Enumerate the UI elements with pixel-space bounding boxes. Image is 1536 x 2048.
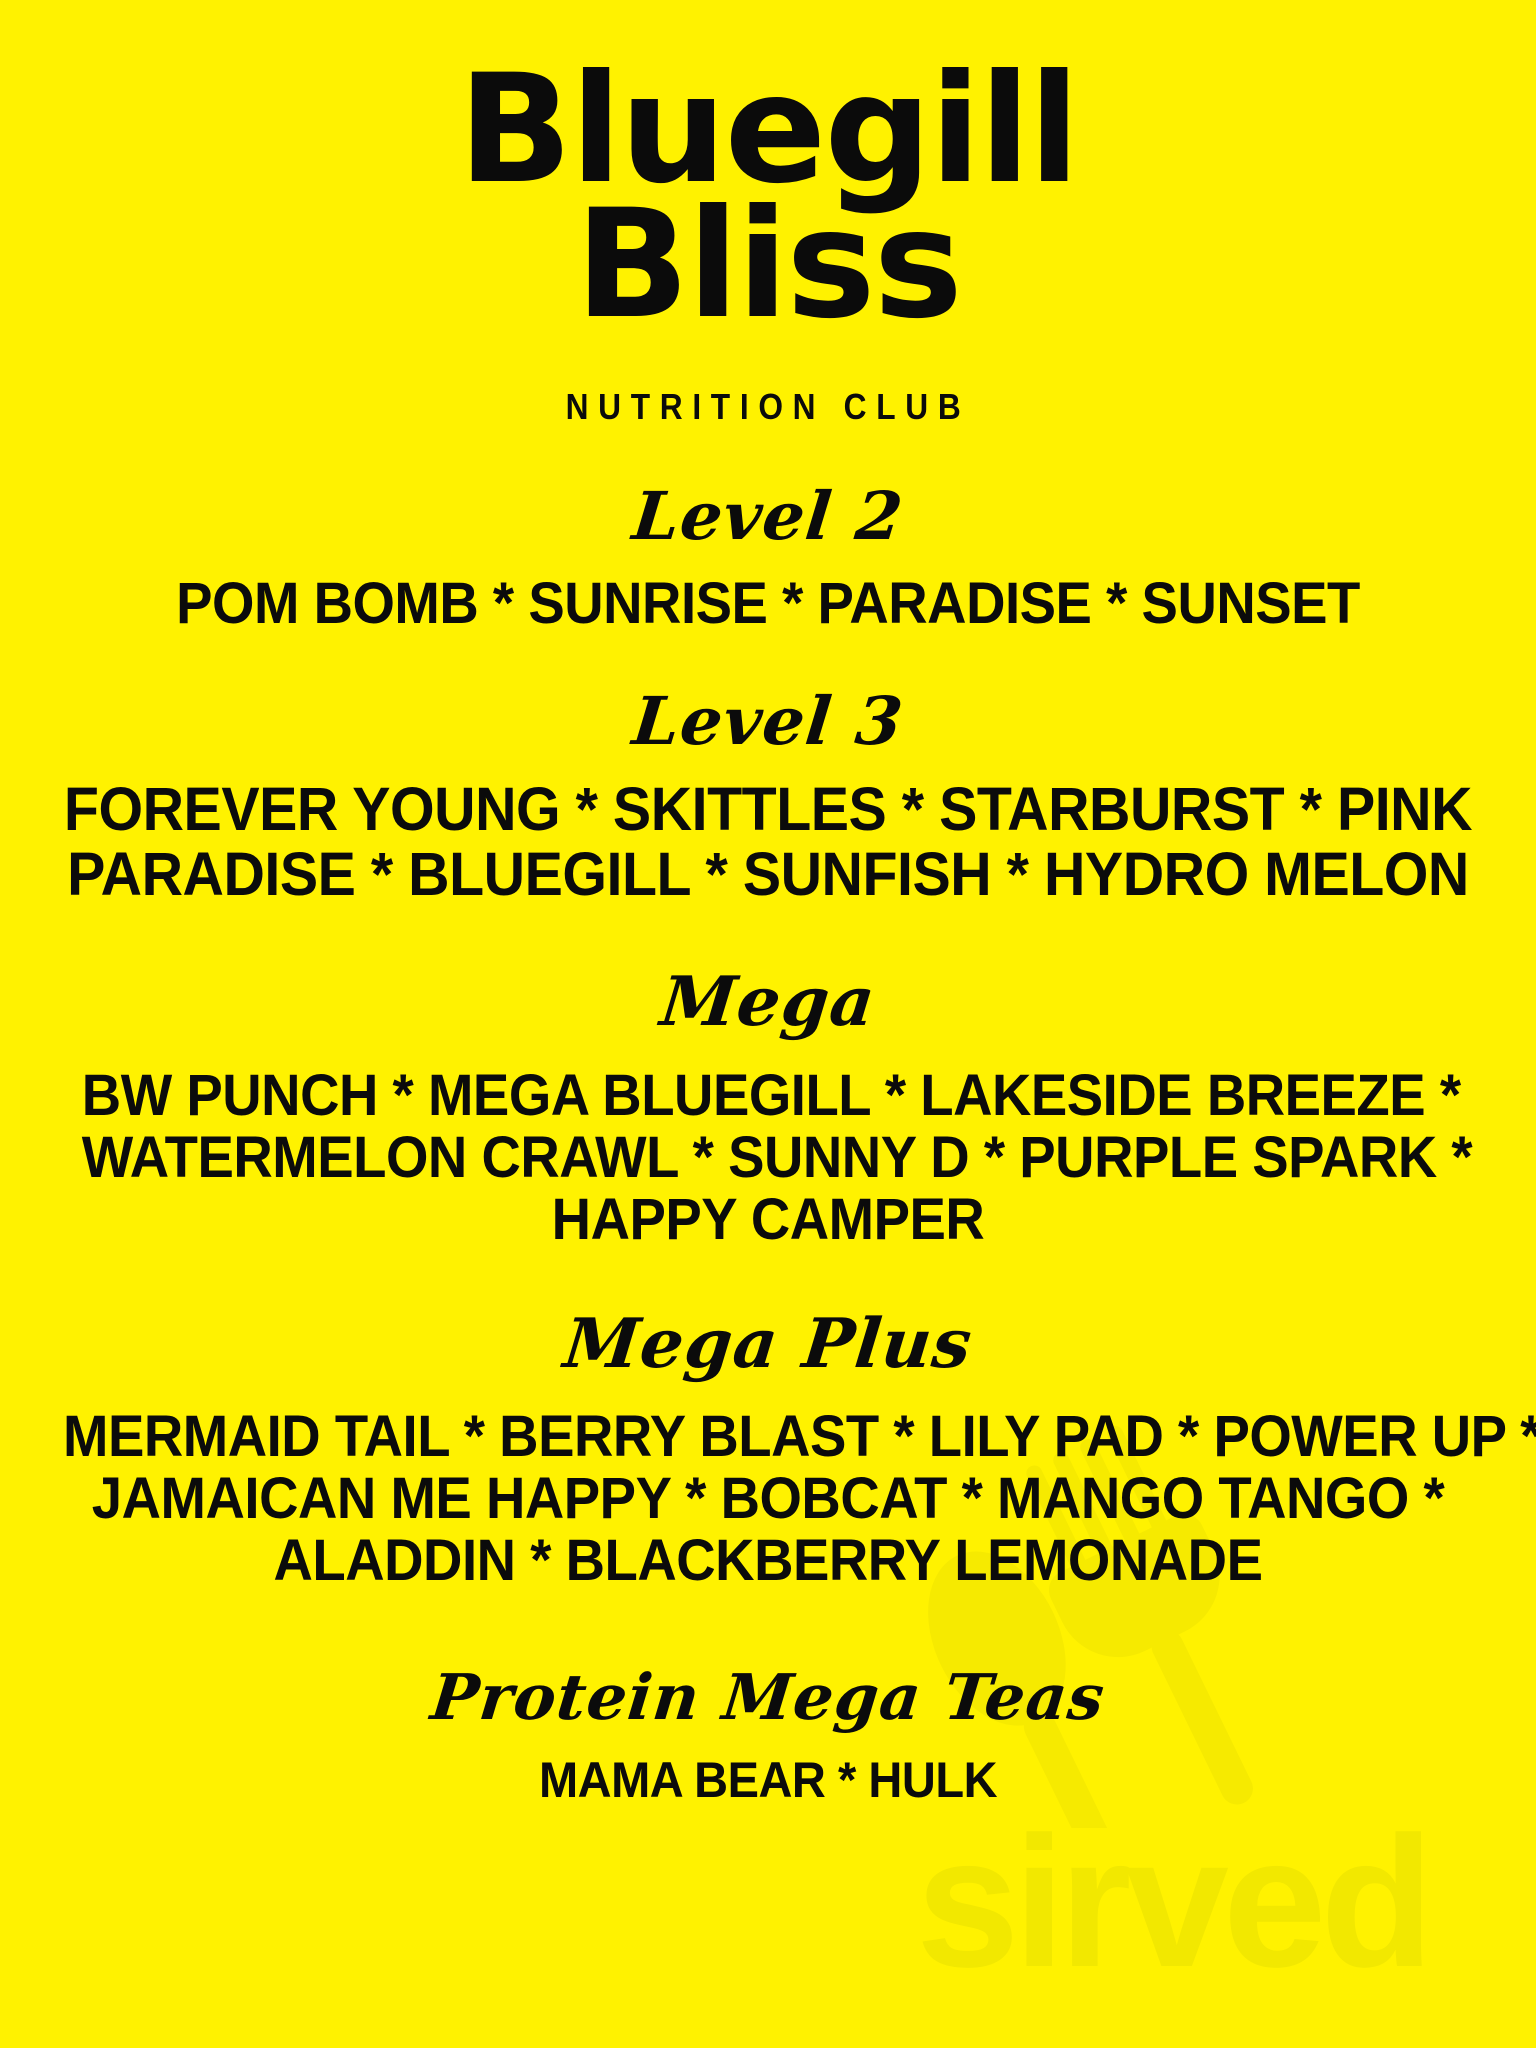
section-items-mega-plus: MERMAID TAIL * BERRY BLAST * LILY PAD * …: [63, 1406, 1473, 1592]
item-line: PARADISE * BLUEGILL * SUNFISH * HYDRO ME…: [63, 842, 1473, 907]
item-line: HAPPY CAMPER: [82, 1189, 1454, 1251]
section-level-2: Level 2 POM BOMB * SUNRISE * PARADISE * …: [0, 482, 1536, 635]
section-mega-plus: Mega Plus MERMAID TAIL * BERRY BLAST * L…: [0, 1309, 1536, 1593]
section-heading-mega: Mega: [0, 967, 1536, 1038]
item-line: FOREVER YOUNG * SKITTLES * STARBURST * P…: [63, 777, 1473, 842]
item-line: ALADDIN * BLACKBERRY LEMONADE: [63, 1530, 1473, 1592]
brand-block: Bluegill Bliss NUTRITION CLUB: [0, 60, 1536, 428]
watermark-wordmark: sirved: [916, 1810, 1428, 1996]
item-line: WATERMELON CRAWL * SUNNY D * PURPLE SPAR…: [82, 1127, 1454, 1189]
section-items-protein-mega-teas: MAMA BEAR * HULK: [72, 1754, 1463, 1808]
item-line: JAMAICAN ME HAPPY * BOBCAT * MANGO TANGO…: [63, 1468, 1473, 1530]
section-items-level-3: FOREVER YOUNG * SKITTLES * STARBURST * P…: [63, 777, 1473, 908]
item-line: MAMA BEAR * HULK: [72, 1754, 1463, 1808]
brand-name-line-2: Bliss: [0, 195, 1536, 336]
section-level-3: Level 3 FOREVER YOUNG * SKITTLES * STARB…: [0, 687, 1536, 907]
section-items-mega: BW PUNCH * MEGA BLUEGILL * LAKESIDE BREE…: [82, 1065, 1454, 1251]
section-protein-mega-teas: Protein Mega Teas MAMA BEAR * HULK: [0, 1664, 1536, 1808]
item-line: BW PUNCH * MEGA BLUEGILL * LAKESIDE BREE…: [82, 1065, 1454, 1127]
section-heading-level-2: Level 2: [0, 482, 1536, 551]
brand-subtitle: NUTRITION CLUB: [92, 386, 1444, 428]
section-items-level-2: POM BOMB * SUNRISE * PARADISE * SUNSET: [72, 573, 1463, 635]
section-heading-mega-plus: Mega Plus: [0, 1309, 1536, 1380]
section-mega: Mega BW PUNCH * MEGA BLUEGILL * LAKESIDE…: [0, 967, 1536, 1251]
section-heading-protein-mega-teas: Protein Mega Teas: [0, 1664, 1536, 1730]
item-line: POM BOMB * SUNRISE * PARADISE * SUNSET: [72, 573, 1463, 635]
menu-poster: sirved Bluegill Bliss NUTRITION CLUB Lev…: [0, 0, 1536, 2048]
poster-content: Bluegill Bliss NUTRITION CLUB Level 2 PO…: [0, 0, 1536, 1808]
item-line: MERMAID TAIL * BERRY BLAST * LILY PAD * …: [63, 1406, 1473, 1468]
section-heading-level-3: Level 3: [0, 687, 1536, 756]
